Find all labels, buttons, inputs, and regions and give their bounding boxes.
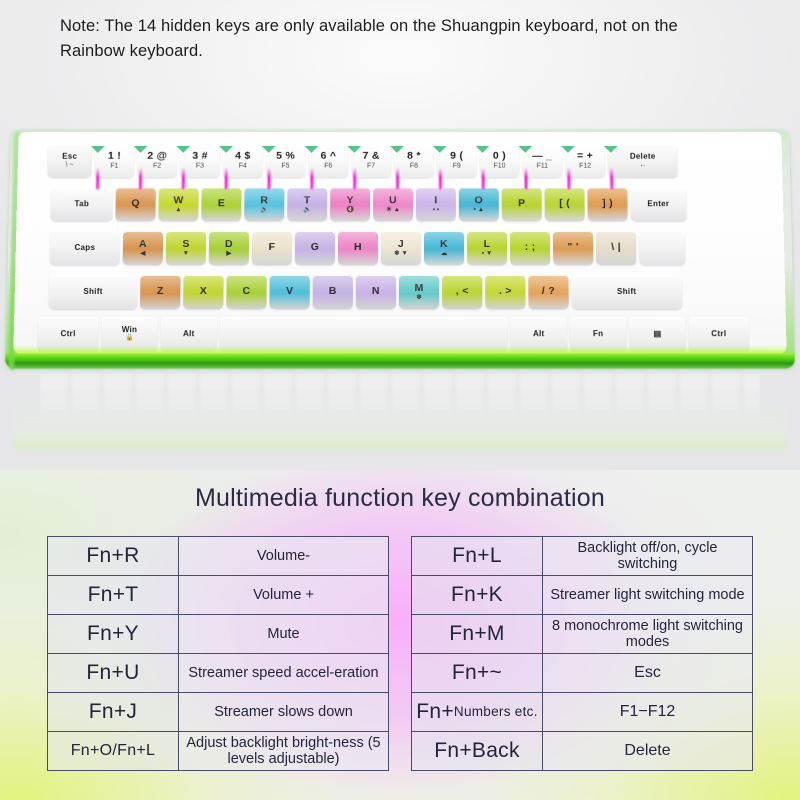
key-function-glyph: ❄ ▼ [394,251,408,258]
key-z[interactable]: Z [140,275,181,309]
table-row: Fn+LBacklight off/on, cycle switching [412,537,753,576]
key-blank[interactable]: " ' [553,231,593,265]
shortcut-description-cell: Streamer slows down [179,693,389,732]
key-g[interactable]: G [295,231,335,265]
shortcut-combo-cell: Fn+Back [412,732,543,771]
key-legend: E [218,199,225,210]
key-legend: 3 # [192,151,208,162]
key-v[interactable]: V [269,275,309,309]
key-blank[interactable]: ] ) [587,187,627,221]
key-sublegend: F5 [281,163,289,170]
key-legend: / ? [542,286,555,297]
key-legend: Caps [74,244,95,252]
key-fn[interactable]: Fn [570,317,627,351]
key-sublegend: F7 [367,163,375,170]
key-legend: 2 @ [147,151,167,162]
green-arrow-marker [262,146,276,153]
key-legend: C [243,286,251,297]
key-function-glyph: ☀ ▲ [386,207,400,214]
key-shift[interactable]: Shift [571,275,682,309]
key-legend: Ctrl [60,330,75,338]
shortcut-combo-cell: Fn+J [48,693,179,732]
key-legend: 6 ^ [320,151,336,162]
key-legend: 4 $ [235,151,251,162]
key-p[interactable]: P [502,187,542,221]
key-legend: G [311,242,320,253]
key-legend: W [173,195,183,206]
shortcut-combo-cell: Fn+U [48,654,179,693]
rgb-light-strip [439,168,442,190]
key-function-glyph: ◀ [140,251,145,258]
key-legend: L [484,239,491,250]
key-legend: H [354,242,362,253]
page-root: Note: The 14 hidden keys are only availa… [0,0,800,800]
rgb-light-strip [524,168,527,190]
key-legend: Alt [533,330,545,338]
key-legend: [ ( [559,199,570,210]
key-blank[interactable]: \ | [596,231,636,265]
key-sublegend: F4 [239,163,247,170]
key-sublegend: F9 [453,163,461,170]
shortcut-description-cell: Volume- [179,537,389,576]
key-legend: Alt [183,330,195,338]
shortcut-combo-cell: Fn+M [412,615,543,654]
rgb-light-strip [567,168,570,190]
green-arrow-marker [91,146,105,153]
key-alt[interactable]: Alt [160,317,217,351]
rgb-light-strip [396,168,398,190]
key-sublegend: F8 [410,163,418,170]
key-legend: — _ [532,151,552,162]
key-legend: M [415,283,424,294]
left-shortcut-table: Fn+RVolume-Fn+TVolume +Fn+YMuteFn+UStrea… [47,536,389,771]
key-legend: \ | [611,242,621,253]
shortcut-description-cell: Volume + [179,576,389,615]
rgb-light-strip [225,168,228,190]
key-caps[interactable]: Caps [49,231,120,265]
key-legend: Shift [617,288,636,296]
key-sublegend: F2 [153,163,161,170]
key-alt[interactable]: Alt [511,317,568,351]
keyboard-reflection-keys [40,374,760,426]
key-j[interactable]: J❄ ▼ [381,231,421,265]
right-shortcut-table: Fn+LBacklight off/on, cycle switchingFn+… [411,536,753,771]
key-f[interactable]: F [252,231,292,265]
key-legend: J [398,239,404,250]
shortcut-combo-cell: Fn+O/Fn+L [48,732,179,771]
key-legend: . > [499,286,512,297]
key-blank[interactable]: . > [485,275,525,309]
key-t[interactable]: T🔊 [287,187,327,221]
key-sublegend: F6 [324,163,332,170]
key-sublegend: F3 [196,163,204,170]
keyboard-row-qwerty-row: TabQW▲ER🔉T🔊Y🔇U☀ ▲I• •O▪ ▲P[ (] )Enter [50,187,689,221]
key-o[interactable]: O▪ ▲ [459,187,499,221]
key-legend: F [269,242,276,253]
green-arrow-marker [476,146,490,153]
key-legend: ] ) [602,199,613,210]
rgb-light-strip [267,168,270,190]
key-ctrl[interactable]: Ctrl [38,317,99,351]
key-sublegend: F12 [579,163,591,170]
section-title: Multimedia function key combination [0,484,800,513]
shortcut-combo-cell: Fn+R [48,537,179,576]
key-u[interactable]: U☀ ▲ [373,187,413,221]
key-legend: Enter [647,200,669,208]
key-function-glyph: 🔒 [125,335,133,342]
key-blank[interactable]: : ; [510,231,550,265]
key-function-glyph: ▲ [175,207,182,214]
green-arrow-marker [518,146,532,153]
rgb-light-strip [482,168,485,190]
key-blank[interactable]: [ ( [545,187,585,221]
key-legend: Z [157,286,164,297]
key-enter[interactable]: Enter [630,187,686,221]
key-legend: K [440,239,448,250]
shortcut-description-cell: Streamer speed accel-eration [179,654,389,693]
rgb-light-strip [353,168,356,190]
key-blank[interactable]: , < [442,275,482,309]
key-function-glyph: ▪ ▲ [474,207,485,214]
key-legend: 9 ( [450,151,463,162]
key-legend: : ; [525,242,536,253]
key-legend: V [286,286,293,297]
keyboard-row-home-row: CapsA◀S▼D▶FGHJ❄ ▼K☁L▪ ▼: ;" '\ | [49,231,688,265]
shortcut-description-cell: Delete [543,732,753,771]
shortcut-combo-cell: Fn+K [412,576,543,615]
key-legend: 8 * [407,151,421,162]
key-k[interactable]: K☁ [424,231,464,265]
key-legend: Shift [83,288,103,296]
key-legend: Esc [62,152,77,160]
shortcut-combo-prefix: Fn+ [416,700,454,723]
key-sublegend: ← [639,162,646,169]
key-y[interactable]: Y🔇 [330,187,370,221]
shortcut-description-cell: Adjust backlight bright-ness (5 levels a… [179,732,389,771]
key-legend: ▤ [653,330,661,338]
shortcut-description-cell: Streamer light switching mode [543,576,753,615]
key-legend: O [475,195,484,206]
table-row: Fn+UStreamer speed accel-eration [48,654,389,693]
shortcut-description-cell: Mute [179,615,389,654]
key-s[interactable]: S▼ [166,231,206,265]
key-i[interactable]: I• • [416,187,456,221]
table-row: Fn+BackDelete [412,732,753,771]
keyboard-row-bottom-row: CtrlWin🔒AltAltFn▤Ctrl [38,317,753,351]
key-function-glyph: 🔊 [303,207,311,214]
key-legend: = + [577,151,593,162]
keyboard-plate: Esc\ ~1 !F12 @F23 #F34 $F45 %F56 ^F67 &F… [13,132,786,353]
key-legend: T [304,195,311,206]
key-win[interactable]: Win🔒 [101,317,158,351]
key-d[interactable]: D▶ [209,231,249,265]
shortcut-reference-section: Multimedia function key combination Fn+R… [0,470,800,800]
shortcut-description-cell: Esc [543,654,753,693]
green-arrow-marker [561,146,575,153]
green-arrow-marker [604,146,618,153]
key-legend: S [182,239,189,250]
green-arrow-marker [347,146,361,153]
key-legend: N [372,286,380,297]
key-function-glyph: ▪ ▼ [482,251,493,258]
key-legend: 1 ! [108,151,121,162]
table-row: Fn+KStreamer light switching mode [412,576,753,615]
green-arrow-marker [305,146,319,153]
key-legend: , < [456,286,469,297]
key-x[interactable]: X [183,275,224,309]
rgb-light-strip [96,168,99,190]
key-legend: B [329,286,337,297]
key-b[interactable]: B [313,275,353,309]
key-function-glyph: ☁ [441,251,448,258]
key-sublegend: F10 [494,163,506,170]
table-row: Fn+YMute [48,615,389,654]
key-legend: Y [346,195,353,206]
green-arrow-marker [176,146,190,153]
key-legend: P [518,199,525,210]
key-function-glyph: ▼ [183,251,190,258]
table-row: Fn+~Esc [412,654,753,693]
key-ctrl[interactable]: Ctrl [688,317,749,351]
key-legend: I [434,195,437,206]
key-n[interactable]: N [356,275,396,309]
product-photo-section: Note: The 14 hidden keys are only availa… [0,0,800,470]
key-legend: " ' [567,242,578,253]
key-blank[interactable] [639,231,686,265]
note-text: Note: The 14 hidden keys are only availa… [60,14,740,64]
key-legend: 7 & [363,151,380,162]
rgb-light-strip [610,168,613,190]
shortcut-description-cell: F1−F12 [543,693,753,732]
shortcut-description-cell: 8 monochrome light switching modes [543,615,753,654]
key-legend: R [260,195,268,206]
key-e[interactable]: E [201,187,241,221]
key-legend: Q [131,199,140,210]
shortcut-combo-cell: Fn+L [412,537,543,576]
green-arrow-marker [219,146,233,153]
key-sublegend: \ ~ [66,162,74,169]
key-r[interactable]: R🔉 [244,187,284,221]
green-arrow-marker [390,146,404,153]
key-legend: Ctrl [711,330,726,338]
keyboard-image: Esc\ ~1 !F12 @F23 #F34 $F45 %F56 ^F67 &F… [0,122,800,372]
key-legend: 0 ) [493,151,506,162]
shortcut-combo-suffix: Numbers etc. [454,705,538,719]
rgb-light-strip [182,168,185,190]
table-row: Fn+JStreamer slows down [48,693,389,732]
table-row: Fn+TVolume + [48,576,389,615]
key-function-glyph: ▶ [226,251,231,258]
shortcut-tables: Fn+RVolume-Fn+TVolume +Fn+YMuteFn+UStrea… [47,536,753,771]
key-sublegend: F11 [537,163,549,170]
keyboard-rows: Esc\ ~1 !F12 @F23 #F34 $F45 %F56 ^F67 &F… [13,132,786,353]
key-legend: D [225,239,233,250]
key-q[interactable]: Q [115,187,155,221]
key-legend: Delete [630,152,656,160]
green-arrow-marker [433,146,447,153]
key-legend: U [389,195,397,206]
keyboard-row-shift-row: ShiftZXCVBNM❄, <. >/ ?Shift [49,275,686,309]
key-function-glyph: • • [433,207,439,214]
table-row: Fn+O/Fn+LAdjust backlight bright-ness (5… [48,732,389,771]
shortcut-combo-cell: Fn+Numbers etc. [412,693,543,732]
key-esc[interactable]: Esc\ ~ [47,144,91,178]
shortcut-combo-cell: Fn+T [48,576,179,615]
key-shift[interactable]: Shift [49,275,138,309]
key-w[interactable]: W▲ [158,187,198,221]
key-tab[interactable]: Tab [50,187,113,221]
table-row: Fn+M8 monochrome light switching modes [412,615,753,654]
key-function-glyph: ❄ [416,295,421,302]
shortcut-combo-cell: Fn+~ [412,654,543,693]
table-row: Fn+Numbers etc.F1−F12 [412,693,753,732]
key-function-glyph: 🔉 [260,207,268,214]
key-c[interactable]: C [226,275,266,309]
key-blank[interactable]: / ? [528,275,568,309]
key-legend: Tab [74,200,89,208]
key-a[interactable]: A◀ [123,231,164,265]
key-h[interactable]: H [338,231,378,265]
shortcut-combo-cell: Fn+Y [48,615,179,654]
key-legend: 5 % [276,151,295,162]
key-m[interactable]: M❄ [399,275,439,309]
key-sublegend: F1 [110,163,118,170]
key-legend: Fn [593,330,604,338]
key-delete[interactable]: Delete← [608,144,678,178]
rgb-light-strip [139,168,142,190]
key-blank[interactable]: ▤ [629,317,686,351]
table-row: Fn+RVolume- [48,537,389,576]
key-blank[interactable] [220,317,508,351]
shortcut-description-cell: Backlight off/on, cycle switching [543,537,753,576]
key-function-glyph: 🔇 [346,207,354,214]
rgb-light-strip [310,168,313,190]
green-arrow-marker [133,146,147,153]
key-l[interactable]: L▪ ▼ [467,231,507,265]
key-legend: X [200,286,207,297]
key-legend: A [139,239,147,250]
